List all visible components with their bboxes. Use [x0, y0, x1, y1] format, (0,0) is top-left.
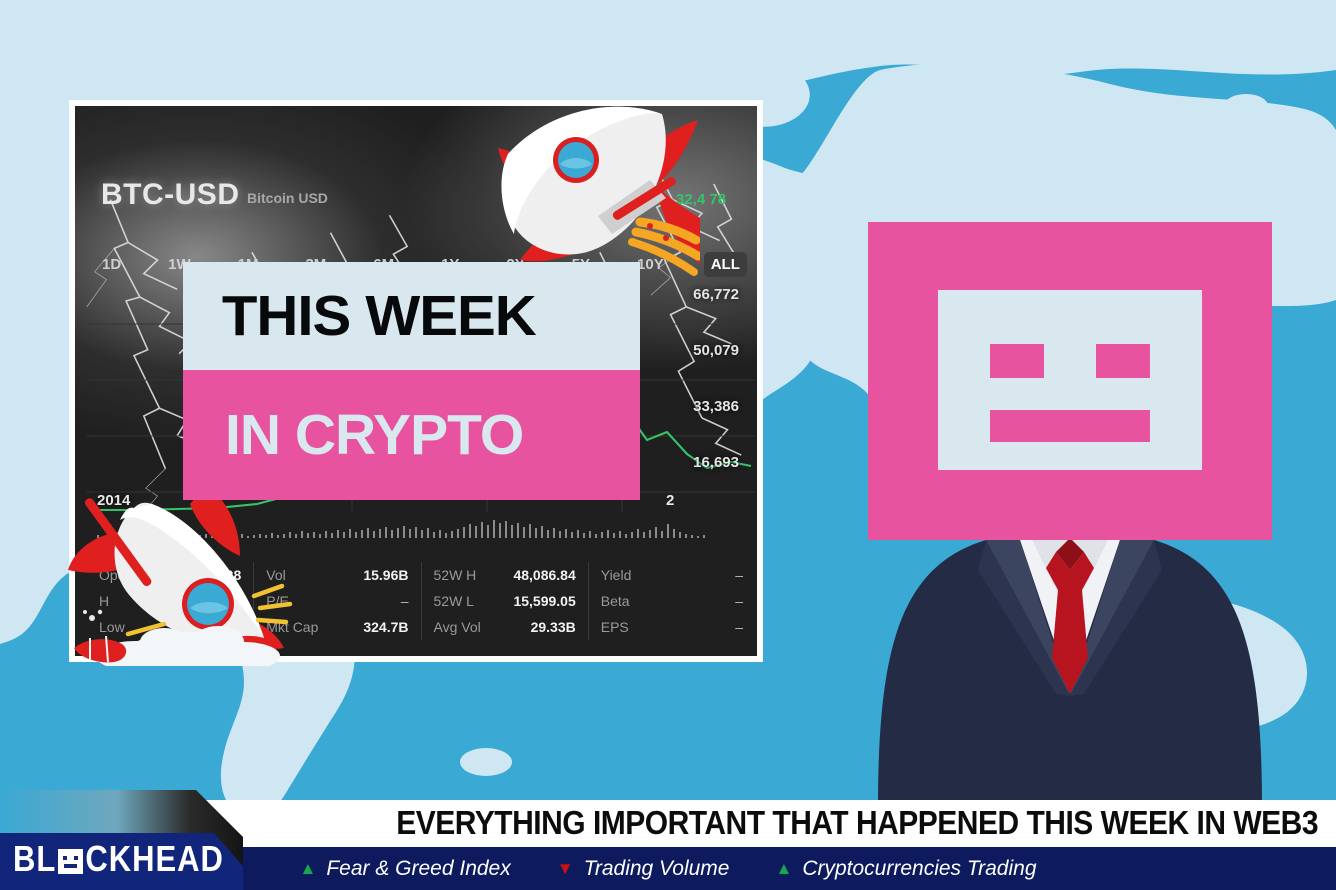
stat-row: 52W L 15,599.05 — [434, 588, 576, 614]
stats-col-3: 52W H 48,086.84 52W L 15,599.05 Avg Vol … — [421, 562, 588, 640]
stat-value: – — [735, 614, 743, 640]
logo-text-part2: CKHEAD — [85, 838, 224, 880]
y-tick-4: 16,693 — [693, 454, 739, 471]
ticker-item-fear-greed-index[interactable]: ▲ Fear & Greed Index — [299, 857, 510, 881]
title-line-1-block: THIS WEEK — [183, 262, 640, 370]
stat-row: EPS – — [601, 614, 743, 640]
ticker-label: Fear & Greed Index — [326, 857, 510, 881]
stat-value: 15.96B — [363, 562, 408, 588]
ticker-label: Cryptocurrencies Trading — [802, 857, 1036, 881]
stat-key: Yield — [601, 562, 632, 588]
ticker-label: Trading Volume — [584, 857, 730, 881]
stat-row: Avg Vol 29.33B — [434, 614, 576, 640]
ticker-item-trading-volume[interactable]: ▼ Trading Volume — [557, 857, 730, 881]
suit-body — [878, 538, 1262, 808]
stat-key: 52W L — [434, 588, 474, 614]
robot-head — [868, 222, 1272, 540]
arrow-down-icon: ▼ — [557, 860, 574, 877]
headline-text: EVERYTHING IMPORTANT THAT HAPPENED THIS … — [396, 804, 1318, 842]
rocket-launch-icon — [490, 98, 700, 283]
title-line-1: THIS WEEK — [222, 283, 536, 349]
stat-value: – — [401, 588, 409, 614]
stat-row: Yield – — [601, 562, 743, 588]
stat-value: 324.7B — [363, 614, 408, 640]
y-tick-2: 50,079 — [693, 342, 739, 359]
stat-key: Avg Vol — [434, 614, 481, 640]
logo-text-part1: BL — [13, 838, 56, 880]
range-all[interactable]: ALL — [704, 252, 747, 277]
stat-key: EPS — [601, 614, 629, 640]
robot-head-businessman — [860, 218, 1280, 808]
chart-ticker-symbol: BTC-USD — [101, 178, 240, 212]
y-tick-1: 66,772 — [693, 286, 739, 303]
ticker-item-cryptocurrencies-trading[interactable]: ▲ Cryptocurrencies Trading — [775, 857, 1036, 881]
robot-left-eye — [990, 344, 1044, 378]
robot-right-eye — [1096, 344, 1150, 378]
title-card: THIS WEEK IN CRYPTO — [183, 262, 640, 500]
chart-ticker-name: Bitcoin USD — [247, 190, 328, 206]
stat-row: Beta – — [601, 588, 743, 614]
stat-value: – — [735, 562, 743, 588]
arrow-up-icon: ▲ — [775, 860, 792, 877]
stat-value: 48,086.84 — [513, 562, 575, 588]
robot-mouth — [990, 410, 1150, 442]
title-line-2-block: IN CRYPTO — [183, 370, 640, 500]
arrow-up-icon: ▲ — [299, 860, 316, 877]
stat-key: Beta — [601, 588, 630, 614]
price-axis-labels: 66,772 50,079 33,386 16,693 — [657, 282, 749, 522]
robot-face-icon — [58, 849, 83, 874]
stat-value: 29.33B — [531, 614, 576, 640]
stat-value: 15,599.05 — [513, 588, 575, 614]
blockhead-logo[interactable]: BL CKHEAD — [0, 790, 243, 890]
stat-value: – — [735, 588, 743, 614]
y-tick-3: 33,386 — [693, 398, 739, 415]
stats-col-4: Yield – Beta – EPS – — [588, 562, 755, 640]
poster-stage: BTC-USD Bitcoin USD 1D 1W 1M 3M 6M 1Y 2Y… — [0, 0, 1336, 890]
logo-wordmark: BL CKHEAD — [13, 841, 224, 877]
x-tick-2022: 2 — [666, 492, 674, 509]
stat-key: 52W H — [434, 562, 477, 588]
range-1d[interactable]: 1D — [95, 252, 128, 277]
stat-row: 52W H 48,086.84 — [434, 562, 576, 588]
title-line-2: IN CRYPTO — [225, 402, 523, 468]
